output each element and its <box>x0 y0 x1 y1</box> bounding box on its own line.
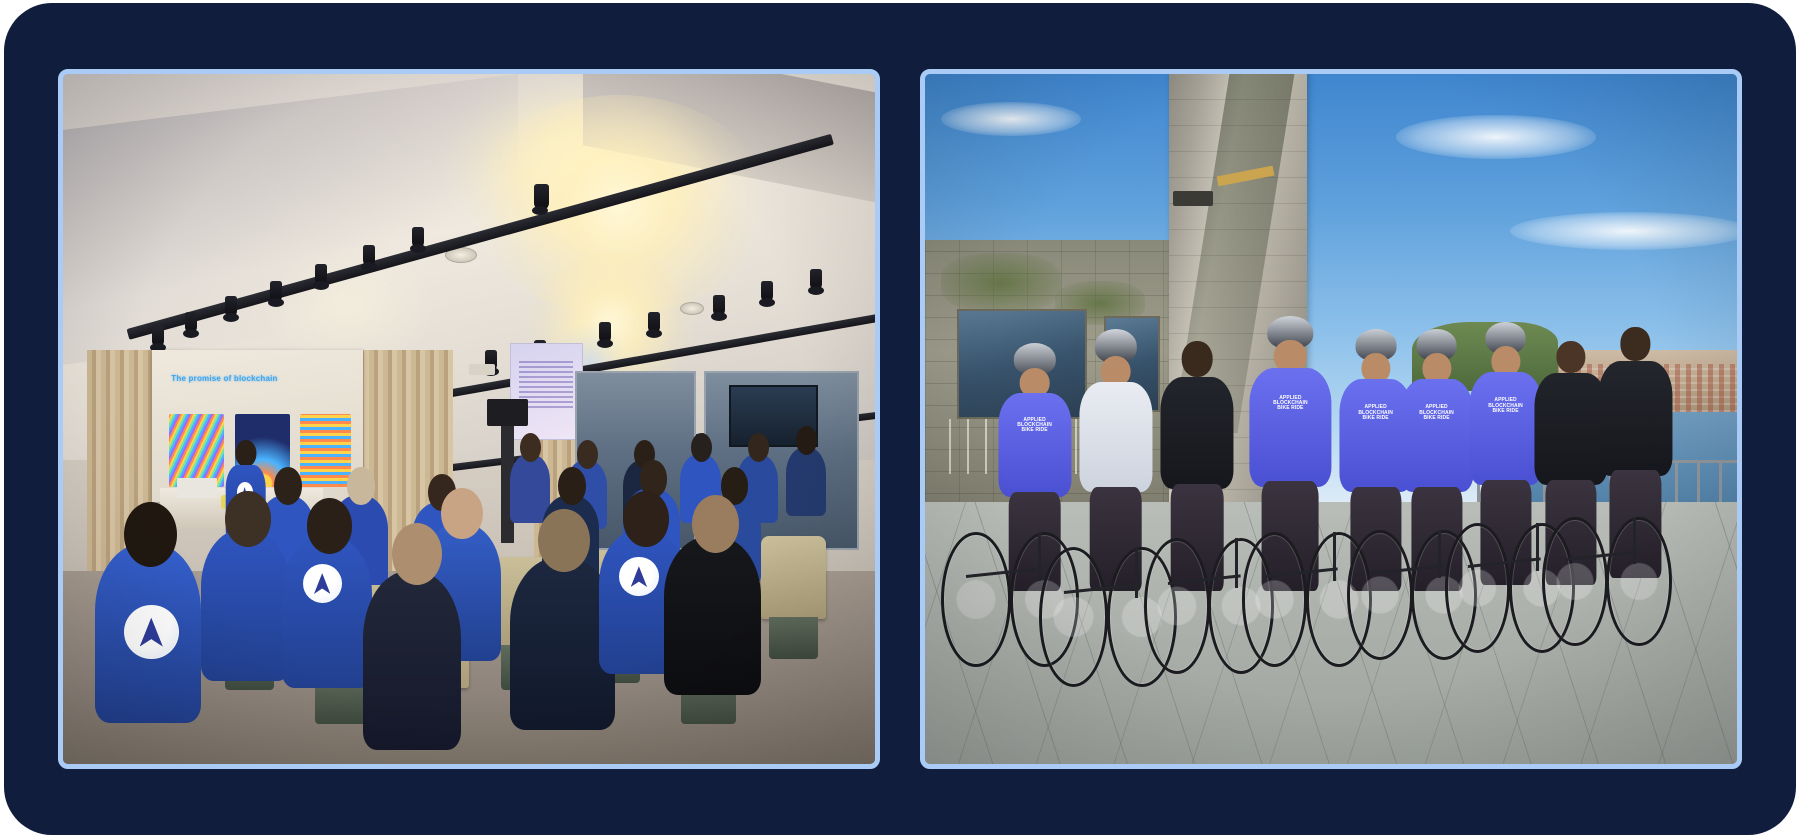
bike-handlebar <box>1438 530 1441 578</box>
jersey-print: APPLIED BLOCKCHAIN BIKE RIDE <box>1483 398 1528 414</box>
cycling-jersey <box>1250 368 1331 487</box>
bike-wheel <box>941 532 1010 667</box>
photo-gallery-card: The promise of blockchain <box>4 3 1796 835</box>
bike-handlebar <box>1536 523 1539 571</box>
audience-head <box>538 509 590 572</box>
audience-head <box>441 488 483 539</box>
jersey-print: APPLIED BLOCKCHAIN BIKE RIDE <box>1265 396 1315 412</box>
audience-member <box>201 529 290 681</box>
cyclist-head <box>1182 341 1213 377</box>
bike-wheel <box>1144 538 1210 673</box>
track-spotlight <box>152 326 164 347</box>
jersey-print: APPLIED BLOCKCHAIN BIKE RIDE <box>1012 418 1057 434</box>
bike-wheel <box>1445 523 1511 653</box>
track-spotlight <box>225 296 237 317</box>
applied-blockchain-logo-badge <box>303 564 342 603</box>
audience-member <box>363 571 460 750</box>
audience-head <box>225 491 270 546</box>
chair <box>761 536 826 619</box>
cycling-jersey <box>1400 379 1473 492</box>
audience-head <box>274 467 302 504</box>
audience-head <box>520 433 541 462</box>
audience-head <box>392 523 442 585</box>
laptop <box>177 478 218 499</box>
conference-presentation-photo: The promise of blockchain <box>63 74 875 764</box>
bicycle <box>1542 488 1672 647</box>
jersey-line-3: BIKE RIDE <box>1492 408 1518 414</box>
track-spotlight <box>270 281 282 302</box>
track-spotlight <box>185 312 197 333</box>
audience-head <box>307 498 352 553</box>
cyclist-head <box>1621 327 1650 360</box>
photo-row: The promise of blockchain <box>4 3 1796 835</box>
jersey-line-3: BIKE RIDE <box>1277 405 1303 411</box>
bike-handlebar <box>1333 532 1336 582</box>
audience-head <box>577 440 598 469</box>
cloud <box>1510 212 1737 250</box>
bike-handlebar <box>1633 517 1636 565</box>
track-spotlight <box>810 269 822 290</box>
audience-member <box>786 447 827 516</box>
audience-head <box>558 467 586 504</box>
photo-frame-right[interactable]: APPLIED BLOCKCHAIN BIKE RIDE <box>920 69 1742 769</box>
photo-frame-left[interactable]: The promise of blockchain <box>58 69 880 769</box>
track-spotlight <box>599 322 611 343</box>
team-bike-ride-photo: APPLIED BLOCKCHAIN BIKE RIDE <box>925 74 1737 764</box>
bike-handlebar <box>1135 547 1138 599</box>
track-spotlight <box>713 295 725 316</box>
cycling-jersey <box>998 393 1071 497</box>
audience-head <box>748 433 769 462</box>
moss-patch <box>941 253 1061 313</box>
applied-blockchain-logo-badge <box>124 605 179 659</box>
bike-wheel <box>1606 517 1672 647</box>
audience-head <box>692 495 739 553</box>
cycling-jersey <box>1534 373 1607 485</box>
cyclist-head <box>1556 341 1585 373</box>
slide-figure <box>169 414 224 487</box>
tower-fixture <box>1173 191 1214 206</box>
cycling-jersey <box>1599 361 1672 476</box>
bike-wheel <box>1242 532 1308 667</box>
screenshot-root: The promise of blockchain <box>0 0 1800 838</box>
cloud <box>941 102 1081 136</box>
bike-wheel <box>1542 517 1608 647</box>
applied-blockchain-logo-badge <box>619 557 658 596</box>
audience-head <box>691 433 712 462</box>
jersey-line-3: BIKE RIDE <box>1423 415 1449 421</box>
cycling-jersey <box>1079 382 1152 492</box>
cycling-jersey <box>1160 377 1233 489</box>
jersey-line-3: BIKE RIDE <box>1022 427 1048 433</box>
slide-title: The promise of blockchain <box>171 374 277 383</box>
track-spotlight <box>412 227 424 248</box>
track-spotlight <box>761 281 773 302</box>
presenter-head <box>235 440 256 467</box>
jersey-line-3: BIKE RIDE <box>1363 415 1389 421</box>
track-spotlight <box>648 312 660 333</box>
audience-head <box>623 491 668 546</box>
track-spotlight <box>363 245 375 266</box>
track-spotlight <box>534 184 549 210</box>
track-spotlight <box>315 264 327 285</box>
audience-head <box>347 467 375 504</box>
audience-member <box>282 536 371 688</box>
cycling-jersey <box>1469 372 1542 485</box>
ceiling-projector <box>469 364 495 375</box>
recessed-light <box>680 302 704 315</box>
jersey-print: APPLIED BLOCKCHAIN BIKE RIDE <box>1414 405 1459 421</box>
jersey-print: APPLIED BLOCKCHAIN BIKE RIDE <box>1353 405 1398 421</box>
bike-handlebar <box>1235 538 1238 588</box>
slide-figure <box>300 414 351 487</box>
bike-wheel <box>1347 530 1413 660</box>
audience-member <box>664 536 761 695</box>
bike-wheel <box>1039 547 1108 688</box>
